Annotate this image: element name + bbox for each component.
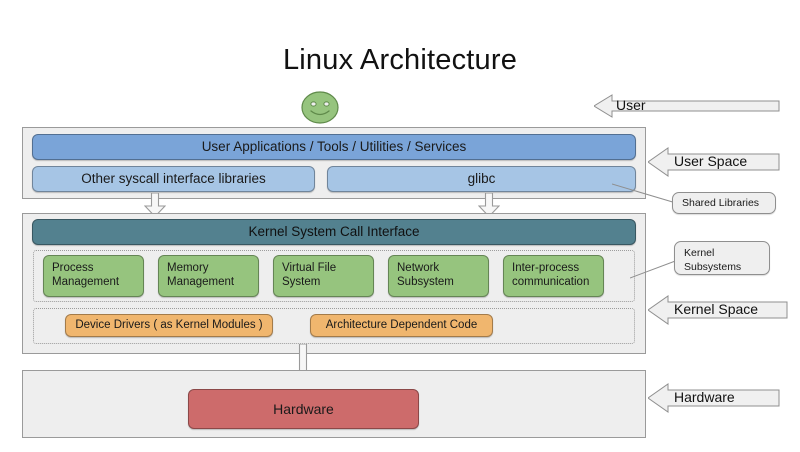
banner-kernel-space: Kernel Space bbox=[648, 294, 788, 326]
banner-user-label: User bbox=[616, 97, 646, 113]
subsystem-label-line2: communication bbox=[512, 276, 589, 290]
hardware-label: Hardware bbox=[273, 401, 334, 418]
subsystem-process-management[interactable]: Process Management bbox=[43, 255, 144, 297]
kernel-syscall-interface-label: Kernel System Call Interface bbox=[248, 224, 419, 240]
glibc-label: glibc bbox=[468, 171, 496, 187]
subsystem-label-line1: Process bbox=[52, 262, 119, 276]
subsystem-label-line2: System bbox=[282, 276, 336, 290]
other-syscall-libraries-label: Other syscall interface libraries bbox=[81, 171, 266, 187]
subsystem-label-line1: Inter-process bbox=[512, 262, 589, 276]
device-drivers-box[interactable]: Device Drivers ( as Kernel Modules ) bbox=[65, 314, 273, 337]
subsystem-label-line1: Memory bbox=[167, 262, 234, 276]
tooltip-shared-libraries: Shared Libraries bbox=[672, 192, 776, 214]
subsystem-label-line2: Subsystem bbox=[397, 276, 454, 290]
subsystem-label-line2: Management bbox=[52, 276, 119, 290]
kernel-syscall-interface-box[interactable]: Kernel System Call Interface bbox=[32, 219, 636, 245]
other-syscall-libraries-box[interactable]: Other syscall interface libraries bbox=[32, 166, 315, 192]
hardware-box[interactable]: Hardware bbox=[188, 389, 419, 429]
subsystem-label-line1: Virtual File bbox=[282, 262, 336, 276]
subsystem-inter-process-communication[interactable]: Inter-process communication bbox=[503, 255, 604, 297]
tooltip-shared-libraries-label: Shared Libraries bbox=[682, 196, 759, 210]
device-drivers-label: Device Drivers ( as Kernel Modules ) bbox=[75, 319, 262, 333]
page-title: Linux Architecture bbox=[0, 44, 800, 77]
user-applications-label: User Applications / Tools / Utilities / … bbox=[202, 139, 467, 155]
subsystem-network-subsystem[interactable]: Network Subsystem bbox=[388, 255, 489, 297]
architecture-dependent-code-label: Architecture Dependent Code bbox=[326, 319, 478, 333]
subsystem-memory-management[interactable]: Memory Management bbox=[158, 255, 259, 297]
tooltip-kernel-subsystems-line2: Subsystems bbox=[684, 260, 760, 274]
glibc-box[interactable]: glibc bbox=[327, 166, 636, 192]
banner-user: User bbox=[594, 92, 780, 120]
subsystem-virtual-file-system[interactable]: Virtual File System bbox=[273, 255, 374, 297]
banner-hardware: Hardware bbox=[648, 382, 780, 414]
architecture-dependent-code-box[interactable]: Architecture Dependent Code bbox=[310, 314, 493, 337]
subsystem-label-line2: Management bbox=[167, 276, 234, 290]
tooltip-kernel-subsystems: Kernel Subsystems bbox=[674, 241, 770, 275]
user-applications-box[interactable]: User Applications / Tools / Utilities / … bbox=[32, 134, 636, 160]
subsystem-label-line1: Network bbox=[397, 262, 454, 276]
tooltip-kernel-subsystems-line1: Kernel bbox=[684, 246, 760, 260]
banner-kernel-space-label: Kernel Space bbox=[674, 301, 758, 317]
banner-user-space-label: User Space bbox=[674, 153, 747, 169]
banner-hardware-label: Hardware bbox=[674, 389, 735, 405]
banner-user-space: User Space bbox=[648, 146, 780, 178]
smiley-face-icon bbox=[301, 91, 339, 124]
